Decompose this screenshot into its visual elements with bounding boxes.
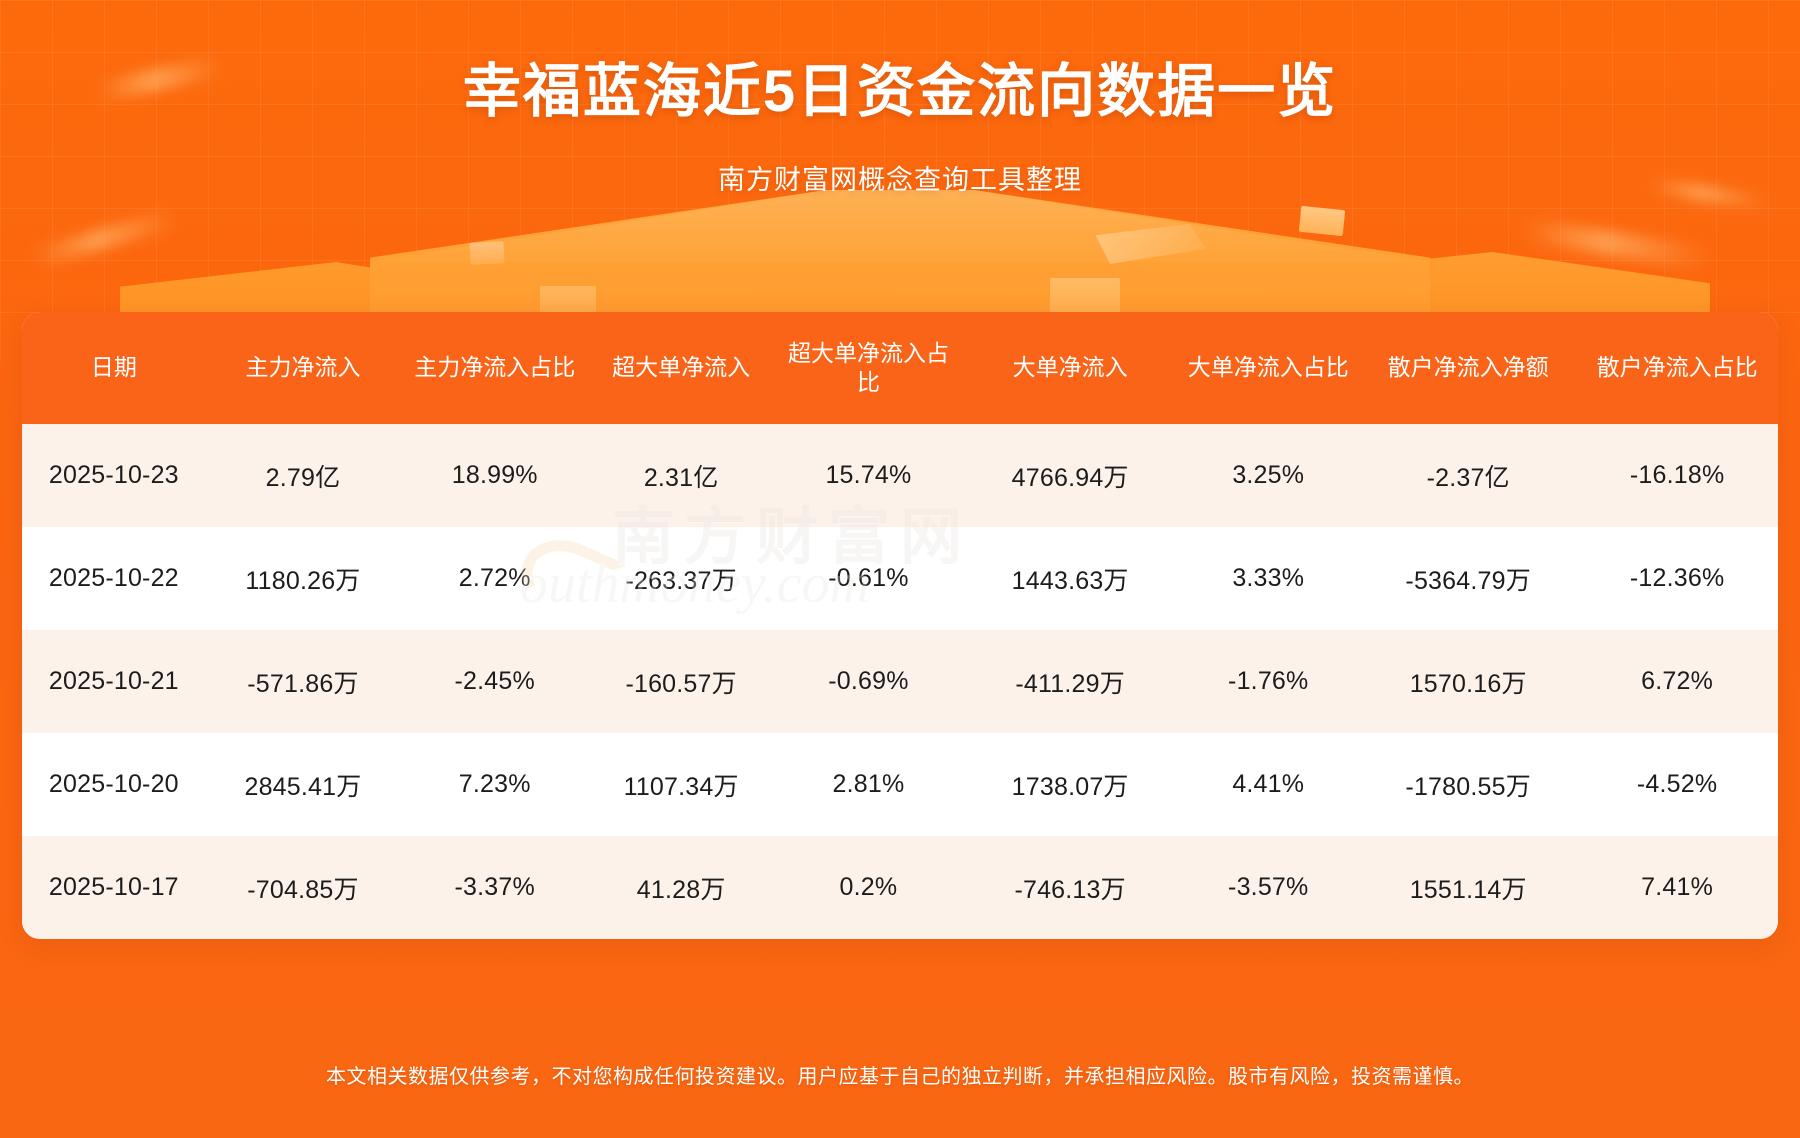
cell-main-net-inflow-ratio: 18.99%	[400, 424, 589, 527]
cell-large-net-inflow-ratio: -3.57%	[1176, 836, 1360, 939]
cell-date: 2025-10-22	[22, 527, 206, 630]
cell-large-net-inflow: -746.13万	[964, 836, 1177, 939]
cell-date: 2025-10-23	[22, 424, 206, 527]
column-header-retail-net-inflow-amount: 散户净流入净额	[1360, 312, 1576, 424]
column-header-xlarge-net-inflow: 超大单净流入	[589, 312, 773, 424]
cell-xlarge-net-inflow-ratio: 15.74%	[773, 424, 964, 527]
cell-date: 2025-10-20	[22, 733, 206, 836]
column-header-main-net-inflow-ratio: 主力净流入占比	[400, 312, 589, 424]
cell-retail-net-inflow-ratio: 7.41%	[1576, 836, 1778, 939]
table-header-row: 日期 主力净流入 主力净流入占比 超大单净流入 超大单净流入占比 大单净流入 大…	[22, 312, 1778, 424]
cell-main-net-inflow-ratio: -2.45%	[400, 630, 589, 733]
cell-retail-net-inflow-amount: -1780.55万	[1360, 733, 1576, 836]
table-row: 2025-10-21 -571.86万 -2.45% -160.57万 -0.6…	[22, 630, 1778, 733]
cell-xlarge-net-inflow: 2.31亿	[589, 424, 773, 527]
cell-main-net-inflow: 1180.26万	[206, 527, 401, 630]
hero-section: 幸福蓝海近5日资金流向数据一览 南方财富网概念查询工具整理	[0, 0, 1800, 197]
cell-xlarge-net-inflow-ratio: -0.61%	[773, 527, 964, 630]
page-title: 幸福蓝海近5日资金流向数据一览	[0, 44, 1800, 128]
cell-retail-net-inflow-ratio: 6.72%	[1576, 630, 1778, 733]
cell-large-net-inflow-ratio: 3.25%	[1176, 424, 1360, 527]
cell-large-net-inflow: -411.29万	[964, 630, 1177, 733]
fund-flow-table-card: 日期 主力净流入 主力净流入占比 超大单净流入 超大单净流入占比 大单净流入 大…	[22, 312, 1778, 939]
cell-date: 2025-10-21	[22, 630, 206, 733]
cell-large-net-inflow: 1738.07万	[964, 733, 1177, 836]
cell-main-net-inflow: -571.86万	[206, 630, 401, 733]
cell-large-net-inflow: 1443.63万	[964, 527, 1177, 630]
cell-xlarge-net-inflow: -263.37万	[589, 527, 773, 630]
podium-block-center-top	[370, 190, 1430, 262]
cell-retail-net-inflow-ratio: -4.52%	[1576, 733, 1778, 836]
cell-xlarge-net-inflow: 1107.34万	[589, 733, 773, 836]
table-body: 2025-10-23 2.79亿 18.99% 2.31亿 15.74% 476…	[22, 424, 1778, 939]
table-row: 2025-10-22 1180.26万 2.72% -263.37万 -0.61…	[22, 527, 1778, 630]
cell-large-net-inflow: 4766.94万	[964, 424, 1177, 527]
column-header-date: 日期	[22, 312, 206, 424]
cell-large-net-inflow-ratio: 3.33%	[1176, 527, 1360, 630]
table-row: 2025-10-23 2.79亿 18.99% 2.31亿 15.74% 476…	[22, 424, 1778, 527]
cell-main-net-inflow: -704.85万	[206, 836, 401, 939]
cell-xlarge-net-inflow: 41.28万	[589, 836, 773, 939]
fund-flow-table: 日期 主力净流入 主力净流入占比 超大单净流入 超大单净流入占比 大单净流入 大…	[22, 312, 1778, 939]
cell-large-net-inflow-ratio: 4.41%	[1176, 733, 1360, 836]
cell-main-net-inflow-ratio: 2.72%	[400, 527, 589, 630]
cell-xlarge-net-inflow-ratio: -0.69%	[773, 630, 964, 733]
page-subtitle: 南方财富网概念查询工具整理	[0, 158, 1800, 197]
cell-large-net-inflow-ratio: -1.76%	[1176, 630, 1360, 733]
cell-retail-net-inflow-ratio: -16.18%	[1576, 424, 1778, 527]
table-row: 2025-10-17 -704.85万 -3.37% 41.28万 0.2% -…	[22, 836, 1778, 939]
column-header-large-net-inflow-ratio: 大单净流入占比	[1176, 312, 1360, 424]
cell-retail-net-inflow-ratio: -12.36%	[1576, 527, 1778, 630]
cell-xlarge-net-inflow-ratio: 0.2%	[773, 836, 964, 939]
cell-retail-net-inflow-amount: -2.37亿	[1360, 424, 1576, 527]
column-header-retail-net-inflow-ratio: 散户净流入占比	[1576, 312, 1778, 424]
cell-main-net-inflow: 2.79亿	[206, 424, 401, 527]
column-header-main-net-inflow: 主力净流入	[206, 312, 401, 424]
column-header-large-net-inflow: 大单净流入	[964, 312, 1177, 424]
disclaimer-text: 本文相关数据仅供参考，不对您构成任何投资建议。用户应基于自己的独立判断，并承担相…	[0, 1060, 1800, 1089]
cell-xlarge-net-inflow-ratio: 2.81%	[773, 733, 964, 836]
cell-main-net-inflow-ratio: 7.23%	[400, 733, 589, 836]
cell-xlarge-net-inflow: -160.57万	[589, 630, 773, 733]
cell-retail-net-inflow-amount: 1551.14万	[1360, 836, 1576, 939]
cell-main-net-inflow: 2845.41万	[206, 733, 401, 836]
cell-retail-net-inflow-amount: 1570.16万	[1360, 630, 1576, 733]
column-header-xlarge-net-inflow-ratio: 超大单净流入占比	[773, 312, 964, 424]
cell-main-net-inflow-ratio: -3.37%	[400, 836, 589, 939]
podium-cube	[1299, 206, 1345, 236]
podium-cube	[469, 241, 504, 265]
table-row: 2025-10-20 2845.41万 7.23% 1107.34万 2.81%…	[22, 733, 1778, 836]
cell-retail-net-inflow-amount: -5364.79万	[1360, 527, 1576, 630]
table-header: 日期 主力净流入 主力净流入占比 超大单净流入 超大单净流入占比 大单净流入 大…	[22, 312, 1778, 424]
cell-date: 2025-10-17	[22, 836, 206, 939]
